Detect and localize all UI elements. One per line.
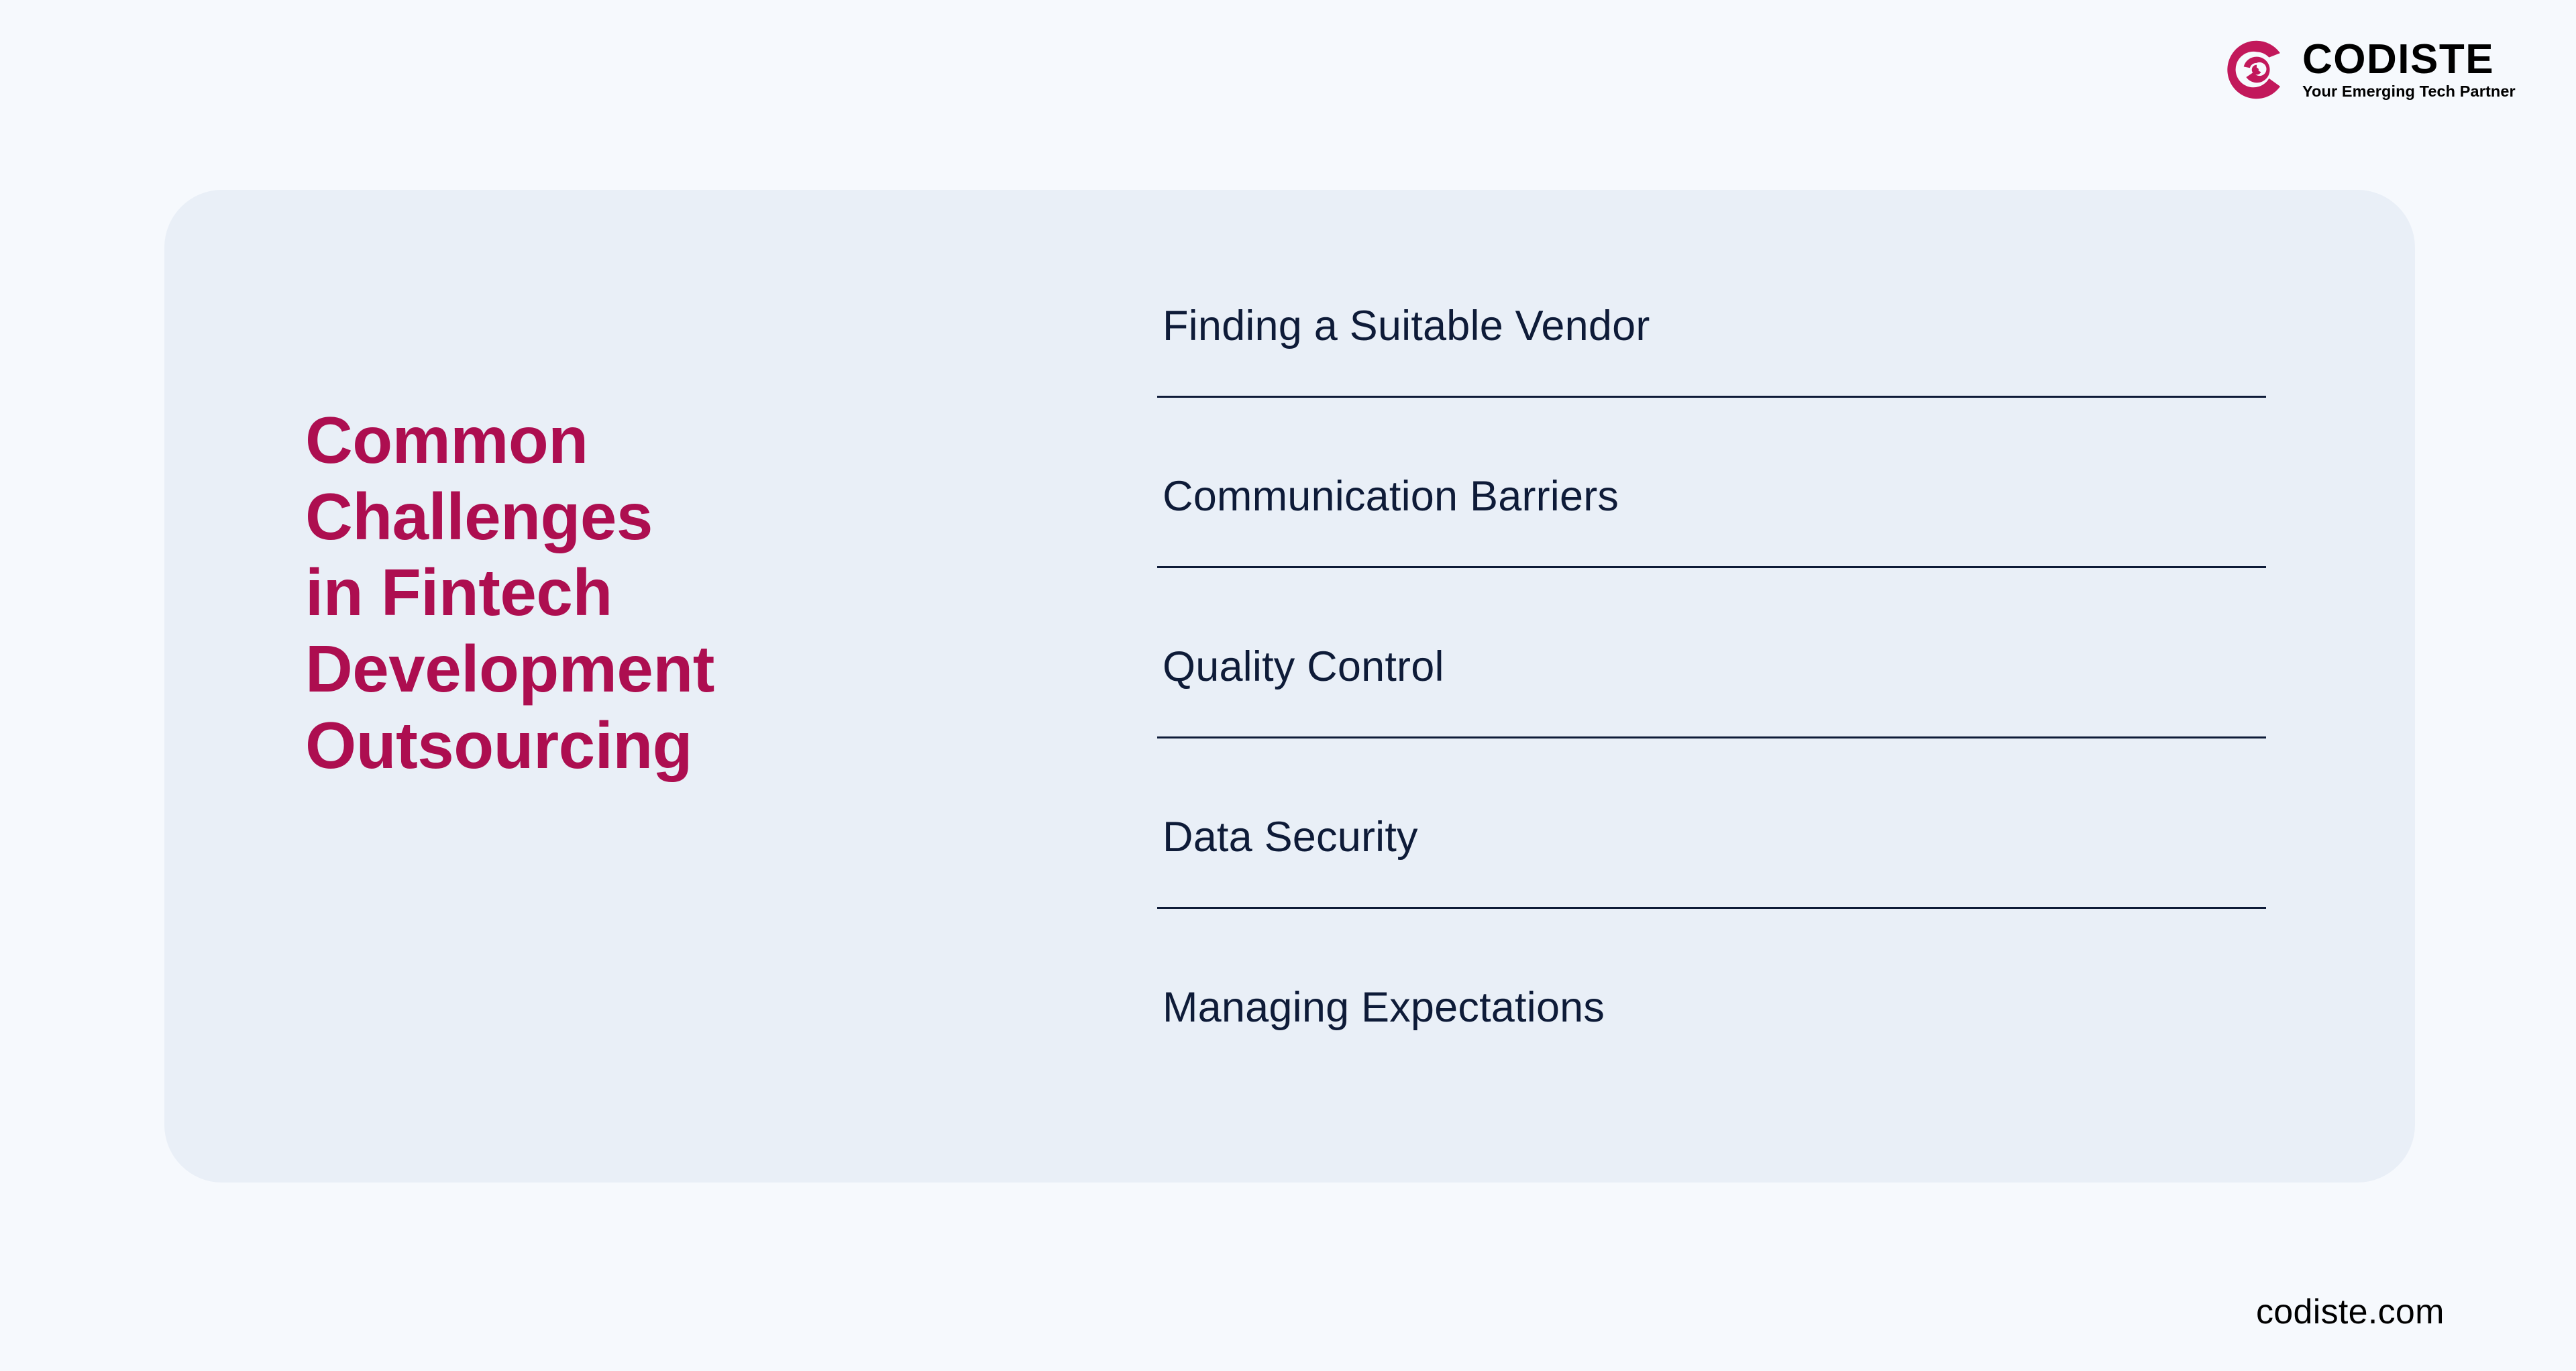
row-spacer [1157,909,2267,987]
brand-logo: CODISTE Your Emerging Tech Partner [2226,39,2516,101]
challenges-list: Finding a Suitable Vendor Communication … [1157,305,2267,1029]
brand-name: CODISTE [2302,40,2516,80]
row-spacer [1157,347,2267,396]
challenge-label-communication-barriers: Communication Barriers [1157,476,2267,518]
challenge-label-managing-expectations: Managing Expectations [1157,987,2267,1029]
slide-canvas: CODISTE Your Emerging Tech Partner Commo… [0,0,2576,1371]
challenge-label-data-security: Data Security [1157,816,2267,859]
row-spacer [1157,688,2267,736]
row-spacer [1157,518,2267,566]
page-title-line-3: in Fintech [305,555,1030,631]
challenge-label-finding-a-suitable-vendor: Finding a Suitable Vendor [1157,305,2267,347]
row-spacer [1157,738,2267,816]
page-title-line-5: Outsourcing [305,708,1030,784]
page-title: Common Challenges in Fintech Development… [305,402,1030,783]
page-title-line-2: Challenges [305,479,1030,555]
challenge-label-quality-control: Quality Control [1157,646,2267,688]
list-item: Communication Barriers [1157,476,2267,518]
list-item: Finding a Suitable Vendor [1157,305,2267,347]
brand-wordmark: CODISTE Your Emerging Tech Partner [2302,40,2516,99]
row-spacer [1157,398,2267,476]
codiste-concentric-c-logo-icon [2226,39,2288,101]
list-item: Managing Expectations [1157,987,2267,1029]
page-title-line-4: Development [305,631,1030,708]
footer-website-url: codiste.com [2256,1295,2445,1329]
brand-tagline: Your Emerging Tech Partner [2302,84,2516,100]
row-spacer [1157,859,2267,907]
list-item: Data Security [1157,816,2267,859]
list-item: Quality Control [1157,646,2267,688]
row-spacer [1157,568,2267,646]
page-title-line-1: Common [305,402,1030,479]
